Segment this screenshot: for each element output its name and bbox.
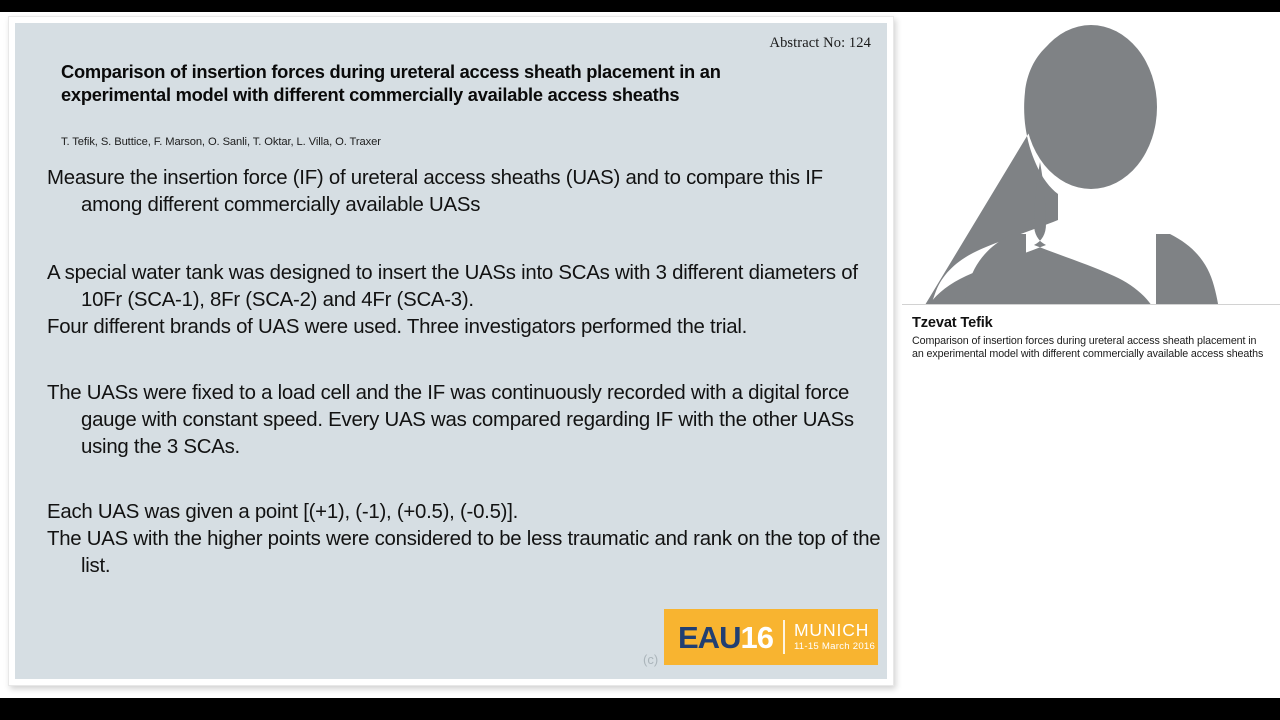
webcast-viewer: Abstract No: 124 Comparison of insertion… <box>0 0 1280 720</box>
slide-body-block-2: A special water tank was designed to ins… <box>47 260 883 342</box>
eau-congress-logo: EAU16 MUNICH 11-15 March 2016 <box>664 609 878 665</box>
slide-body-line: A special water tank was designed to ins… <box>47 260 883 314</box>
eau-city: MUNICH <box>794 622 875 640</box>
letterbox-bottom-bar <box>0 698 1280 720</box>
slide-body-line: Each UAS was given a point [(+1), (-1), … <box>47 499 883 526</box>
slide-body-line: The UAS with the higher points were cons… <box>47 526 883 580</box>
copyright-watermark: (c) <box>643 652 658 667</box>
eau-year: 16 <box>740 620 772 655</box>
slide-title: Comparison of insertion forces during ur… <box>61 61 801 106</box>
slide-body-block-4: Each UAS was given a point [(+1), (-1), … <box>47 499 883 581</box>
letterbox-top-bar <box>0 0 1280 12</box>
eau-divider-icon <box>783 620 785 654</box>
slide-body-block-1: Measure the insertion force (IF) of uret… <box>47 165 883 219</box>
slide-body-line: Four different brands of UAS were used. … <box>47 314 883 341</box>
slide-surface: Abstract No: 124 Comparison of insertion… <box>15 23 887 679</box>
speaker-avatar <box>902 12 1280 305</box>
slide-card[interactable]: Abstract No: 124 Comparison of insertion… <box>8 16 894 686</box>
slide-authors: T. Tefik, S. Buttice, F. Marson, O. Sanl… <box>61 135 821 149</box>
slide-body-line: The UASs were fixed to a load cell and t… <box>47 380 883 462</box>
eau-letters: EAU <box>678 620 740 655</box>
eau-dates: 11-15 March 2016 <box>794 642 875 652</box>
speaker-panel: Tzevat Tefik Comparison of insertion for… <box>902 12 1280 698</box>
speaker-name: Tzevat Tefik <box>912 315 1270 332</box>
eau-wordmark: EAU16 <box>678 622 773 653</box>
eau-city-block: MUNICH 11-15 March 2016 <box>794 622 875 651</box>
speaker-presentation-title: Comparison of insertion forces during ur… <box>912 335 1270 361</box>
person-silhouette-icon <box>902 12 1280 305</box>
slide-body-line: Measure the insertion force (IF) of uret… <box>47 165 883 219</box>
slide-body-block-3: The UASs were fixed to a load cell and t… <box>47 380 883 462</box>
speaker-meta: Tzevat Tefik Comparison of insertion for… <box>902 305 1280 361</box>
abstract-number: Abstract No: 124 <box>770 35 871 52</box>
